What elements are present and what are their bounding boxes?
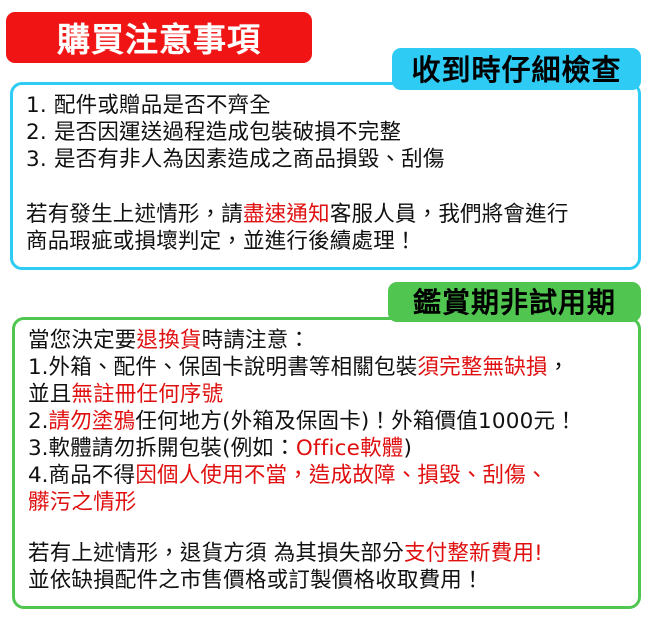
inspect-panel-spacer: [26, 173, 638, 201]
footer-text-part-1: 若有發生上述情形，請: [26, 202, 243, 227]
list-item-highlight: Office軟體: [296, 436, 404, 461]
cooling-intro-highlight: 退換貨: [137, 328, 202, 353]
list-item: 2.請勿塗鴉任何地方(外箱及保固卡)！外箱價值1000元！: [28, 408, 638, 435]
list-item-continuation: 髒污之情形: [28, 489, 638, 516]
list-item: 1.外箱、配件、保固卡說明書等相關包裝須完整無缺損，: [28, 354, 638, 381]
footer-highlight: 盡速通知: [243, 202, 330, 227]
cooling-panel-spacer: [28, 516, 638, 540]
list-item: 3. 是否有非人為因素造成之商品損毀、刮傷: [26, 146, 638, 173]
cooling-panel-content: 當您決定要退換貨時請注意： 1.外箱、配件、保固卡說明書等相關包裝須完整無缺損，…: [15, 320, 638, 594]
inspect-panel-content: 1. 配件或贈品是否不齊全 2. 是否因運送過程造成包裝破損不完整 3. 是否有…: [13, 85, 638, 255]
footer-text-part-2: 客服人員，我們將會進行: [330, 202, 569, 227]
list-item-number: 1.: [28, 355, 49, 380]
cooling-intro-part-1: 當您決定要: [28, 328, 137, 353]
cooling-period-badge-label: 鑑賞期非試用期: [413, 281, 616, 321]
cooling-footer-part-1: 若有上述情形，退貨方須 為其損失部分: [28, 541, 404, 566]
list-item-text-part-1: 外箱、配件、保固卡說明書等相關包裝: [49, 355, 418, 380]
purchase-notice-badge-label: 購買注意事項: [57, 13, 261, 61]
list-item-text: 任何地方(外箱及保固卡)！外箱價值1000元！: [135, 409, 577, 434]
list-item: 2. 是否因運送過程造成包裝破損不完整: [26, 119, 638, 146]
list-item-number: 2.: [28, 409, 49, 434]
cooling-period-badge: 鑑賞期非試用期: [388, 282, 641, 322]
inspect-on-receipt-badge: 收到時仔細檢查: [392, 48, 641, 90]
list-item: 1. 配件或贈品是否不齊全: [26, 92, 638, 119]
cooling-period-panel: 當您決定要退換貨時請注意： 1.外箱、配件、保固卡說明書等相關包裝須完整無缺損，…: [12, 317, 641, 609]
list-item-suffix: ): [404, 436, 413, 461]
list-item-continuation-prefix: 並且: [28, 382, 71, 407]
cooling-intro-part-2: 時請注意：: [202, 328, 311, 353]
purchase-notice-badge: 購買注意事項: [6, 12, 312, 63]
list-item: 4.商品不得因個人使用不當，造成故障、損毀、刮傷、: [28, 462, 638, 489]
list-item-prefix: 商品不得: [49, 463, 136, 488]
inspect-on-receipt-badge-label: 收到時仔細檢查: [411, 47, 621, 89]
list-item-prefix: 軟體請勿拆開包裝(例如：: [49, 436, 296, 461]
list-item-continuation: 並且無註冊任何序號: [28, 381, 638, 408]
cooling-footer-highlight: 支付整新費用!: [404, 541, 543, 566]
cooling-intro-line: 當您決定要退換貨時請注意：: [28, 327, 638, 354]
inspect-on-receipt-panel: 1. 配件或贈品是否不齊全 2. 是否因運送過程造成包裝破損不完整 3. 是否有…: [10, 82, 641, 270]
cooling-panel-footer-line-2: 並依缺損配件之市售價格或訂製價格收取費用！: [28, 567, 638, 594]
list-item-highlight-1: 須完整無缺損: [417, 355, 547, 380]
inspect-panel-footer-line-1: 若有發生上述情形，請盡速通知客服人員，我們將會進行: [26, 201, 638, 228]
cooling-panel-footer-line-1: 若有上述情形，退貨方須 為其損失部分支付整新費用!: [28, 540, 638, 567]
list-item-number: 4.: [28, 463, 49, 488]
list-item-highlight-line-1: 因個人使用不當，造成故障、損毀、刮傷、: [135, 463, 547, 488]
inspect-panel-footer-line-2: 商品瑕疵或損壞判定，並進行後續處理！: [26, 228, 638, 255]
list-item-highlight-line-2: 髒污之情形: [28, 490, 137, 515]
list-item-highlight: 請勿塗鴉: [49, 409, 136, 434]
list-item: 3.軟體請勿拆開包裝(例如：Office軟體): [28, 435, 638, 462]
list-item-text-part-2: ，: [548, 355, 570, 380]
list-item-highlight-2: 無註冊任何序號: [71, 382, 223, 407]
list-item-number: 3.: [28, 436, 49, 461]
